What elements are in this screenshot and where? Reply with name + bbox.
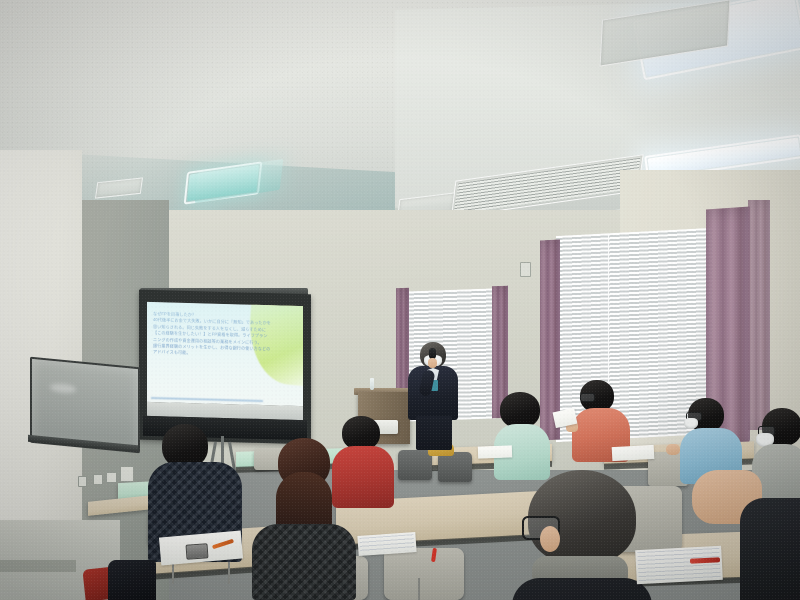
foreground-attendee-jacket xyxy=(512,578,652,600)
foreground-attendee-ear xyxy=(540,526,560,552)
wall-outlet-3 xyxy=(106,472,117,483)
foreground-right-sleeve xyxy=(740,498,800,600)
wall-switch-right xyxy=(520,262,531,277)
handout-foreground-right xyxy=(635,546,723,584)
handout-foreground-center xyxy=(357,532,416,556)
black-bag xyxy=(108,560,156,600)
mint-attendee-head xyxy=(500,392,540,428)
small-device xyxy=(186,543,209,559)
wall-outlet-2 xyxy=(93,474,103,485)
longhair-attendee-jacket xyxy=(252,524,356,600)
curtain-far-right-edge xyxy=(748,200,770,430)
blue-attendee-hand xyxy=(666,444,680,455)
seminar-room-photo: なぜFPを目指したか？ 40代後半にお金で大失敗。いかに自分に「無知」であったか… xyxy=(0,0,800,600)
presenter-legs xyxy=(416,416,452,450)
wall-outlet-1 xyxy=(78,476,87,487)
wall-panel xyxy=(120,466,134,482)
salmon-attendee-glasses-icon xyxy=(580,393,595,402)
water-bottle xyxy=(370,378,374,390)
chair-foreground-center-1 xyxy=(384,548,464,600)
slide-projection-glow xyxy=(147,302,303,406)
chair-leg-3 xyxy=(418,578,420,600)
slide-surface: なぜFPを目指したか？ 40代後半にお金で大失敗。いかに自分に「無知」であったか… xyxy=(147,302,303,406)
red-attendee-torso xyxy=(332,446,394,508)
chair-front-center-2 xyxy=(438,452,472,482)
blue-attendee-mask-icon xyxy=(684,418,698,429)
handout-mid-desk xyxy=(478,445,512,458)
whiteboard-glare xyxy=(50,383,76,395)
presenter-hand xyxy=(428,358,437,368)
screen-tripod-pole xyxy=(221,436,224,466)
chair-front-center-1 xyxy=(398,450,432,480)
baseboard-left xyxy=(0,560,76,572)
projection-screen: なぜFPを目指したか？ 40代後半にお金で大失敗。いかに自分に「無知」であったか… xyxy=(139,290,311,445)
handout-right-desk xyxy=(612,445,655,461)
red-attendee-head xyxy=(342,416,380,450)
